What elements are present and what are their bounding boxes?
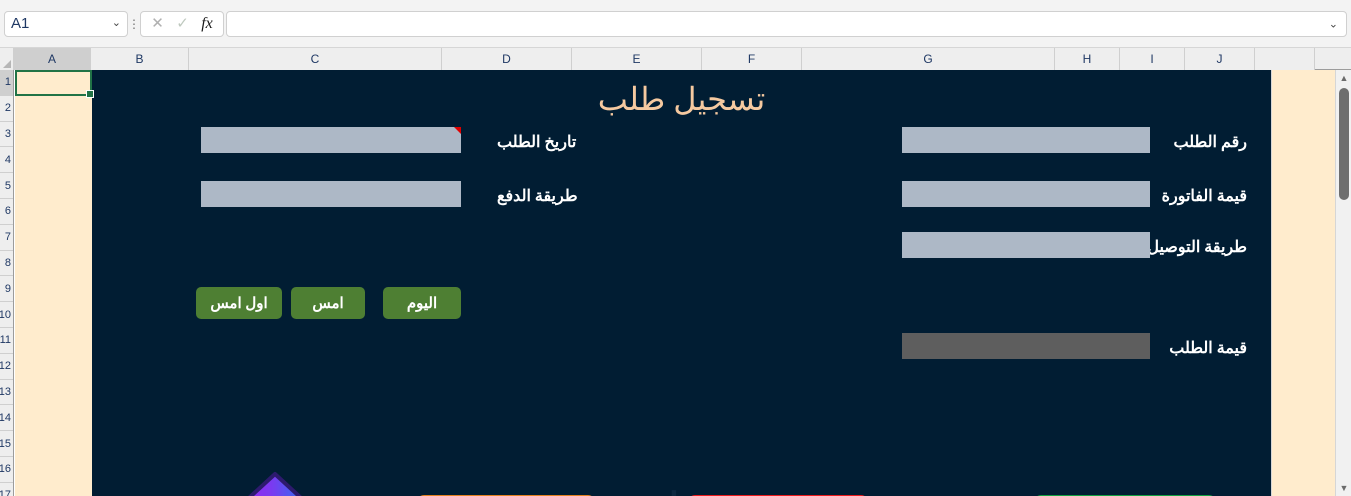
input-order-date[interactable] bbox=[201, 127, 461, 153]
order-form-panel: تسجيل طلب رقم الطلب قيمة الفاتورة طريقة … bbox=[92, 70, 1271, 496]
column-header-a[interactable]: A bbox=[14, 48, 91, 70]
row-header-2[interactable]: 2 bbox=[0, 96, 13, 122]
column-a-cells[interactable] bbox=[15, 70, 92, 496]
row-header-11[interactable]: 11 bbox=[0, 328, 13, 354]
scroll-up-icon[interactable]: ▲ bbox=[1336, 70, 1351, 86]
row-header-10[interactable]: 10 bbox=[0, 302, 13, 328]
quick-date-day-before-yesterday[interactable]: اول امس bbox=[196, 287, 282, 319]
column-header-e[interactable]: E bbox=[572, 48, 702, 70]
input-payment-method[interactable] bbox=[201, 181, 461, 207]
column-headers: A B C D E F G H I J bbox=[0, 48, 1351, 70]
spreadsheet-grid: A B C D E F G H I J 1 2 3 4 5 6 7 8 9 10… bbox=[0, 48, 1351, 496]
name-box[interactable]: A1 ⌄ bbox=[4, 11, 128, 37]
input-invoice-value[interactable] bbox=[902, 181, 1150, 207]
column-header-b[interactable]: B bbox=[91, 48, 189, 70]
row-header-16[interactable]: 16 bbox=[0, 457, 13, 483]
accept-icon[interactable]: ✓ bbox=[176, 16, 189, 31]
input-order-value bbox=[902, 333, 1150, 359]
cancel-icon[interactable]: ✕ bbox=[151, 16, 164, 31]
column-header-d[interactable]: D bbox=[442, 48, 572, 70]
column-header-h[interactable]: H bbox=[1055, 48, 1120, 70]
column-header-c[interactable]: C bbox=[189, 48, 442, 70]
insert-function-icon[interactable]: fx bbox=[201, 16, 213, 32]
row-header-14[interactable]: 14 bbox=[0, 405, 13, 431]
column-header-i[interactable]: I bbox=[1120, 48, 1185, 70]
input-order-number[interactable] bbox=[902, 127, 1150, 153]
label-order-date: تاريخ الطلب bbox=[497, 132, 576, 152]
formula-controls: ✕ ✓ fx bbox=[140, 11, 224, 37]
select-all-corner[interactable] bbox=[0, 48, 14, 70]
formula-input[interactable]: ⌄ bbox=[226, 11, 1347, 37]
home-button[interactable] bbox=[233, 470, 317, 496]
quick-date-today[interactable]: اليوم bbox=[383, 287, 461, 319]
row-header-3[interactable]: 3 bbox=[0, 122, 13, 148]
name-box-value: A1 bbox=[11, 15, 112, 32]
vertical-scrollbar[interactable]: ▲ ▼ bbox=[1335, 70, 1351, 496]
label-order-value: قيمة الطلب bbox=[1169, 338, 1247, 358]
formula-expand-icon[interactable]: ⌄ bbox=[1329, 17, 1338, 30]
row-header-1[interactable]: 1 bbox=[0, 70, 13, 96]
row-header-17[interactable]: 17 bbox=[0, 483, 13, 496]
formula-bar: A1 ⌄ ⋮ ✕ ✓ fx ⌄ bbox=[0, 0, 1351, 48]
row-header-15[interactable]: 15 bbox=[0, 431, 13, 457]
sheet-body: تسجيل طلب رقم الطلب قيمة الفاتورة طريقة … bbox=[15, 70, 1351, 496]
row-header-8[interactable]: 8 bbox=[0, 251, 13, 277]
column-header-g[interactable]: G bbox=[802, 48, 1055, 70]
row-header-12[interactable]: 12 bbox=[0, 354, 13, 380]
row-header-9[interactable]: 9 bbox=[0, 276, 13, 302]
label-invoice-value: قيمة الفاتورة bbox=[1162, 186, 1247, 206]
row-header-4[interactable]: 4 bbox=[0, 147, 13, 173]
row-headers: 1 2 3 4 5 6 7 8 9 10 11 12 13 14 15 16 1… bbox=[0, 70, 14, 496]
label-delivery-method: طريقة التوصيل bbox=[1147, 237, 1247, 257]
scrollbar-thumb[interactable] bbox=[1339, 88, 1349, 200]
home-icon bbox=[233, 470, 317, 496]
chevron-down-icon[interactable]: ⌄ bbox=[112, 18, 121, 29]
quick-date-yesterday[interactable]: امس bbox=[291, 287, 365, 319]
label-payment-method: طريقة الدفع bbox=[497, 186, 578, 206]
page-title: تسجيل طلب bbox=[92, 80, 1271, 118]
row-header-5[interactable]: 5 bbox=[0, 173, 13, 199]
row-header-13[interactable]: 13 bbox=[0, 380, 13, 406]
row-header-7[interactable]: 7 bbox=[0, 225, 13, 251]
toolbar-grip: ⋮ bbox=[128, 11, 140, 37]
column-header-j[interactable]: J bbox=[1185, 48, 1255, 70]
column-header-overflow bbox=[1255, 48, 1315, 70]
input-delivery-method[interactable] bbox=[902, 232, 1150, 258]
row-header-6[interactable]: 6 bbox=[0, 199, 13, 225]
scroll-down-icon[interactable]: ▼ bbox=[1336, 480, 1351, 496]
active-cell-a1[interactable] bbox=[15, 70, 92, 96]
column-header-f[interactable]: F bbox=[702, 48, 802, 70]
label-order-number: رقم الطلب bbox=[1174, 132, 1247, 152]
